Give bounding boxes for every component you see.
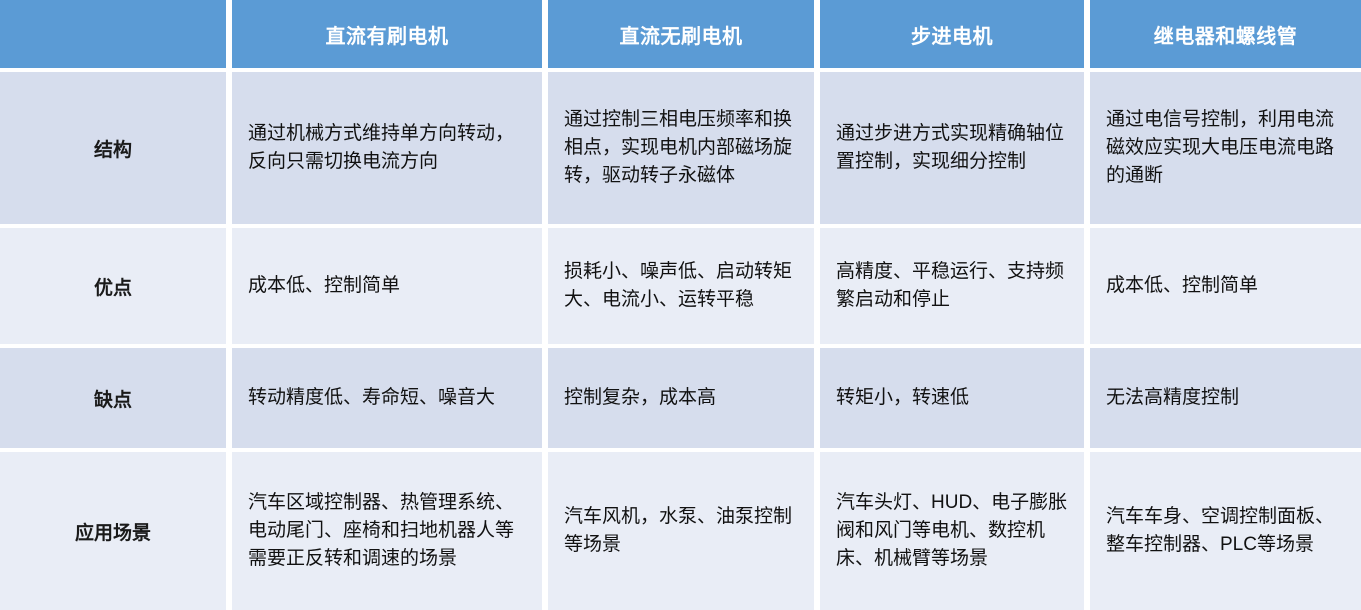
table-row: 结构 通过机械方式维持单方向转动，反向只需切换电流方向 通过控制三相电压频率和换… [0, 72, 1361, 224]
table-row: 缺点 转动精度低、寿命短、噪音大 控制复杂，成本高 转矩小，转速低 无法高精度控… [0, 348, 1361, 448]
cell-structure-stepper: 通过步进方式实现精确轴位置控制，实现细分控制 [820, 72, 1090, 224]
cell-disadvantages-relay-solenoid: 无法高精度控制 [1090, 348, 1361, 448]
motor-comparison-table: 直流有刷电机 直流无刷电机 步进电机 继电器和螺线管 结构 通过机械方式维持单方… [0, 0, 1361, 610]
row-label-cell-disadvantages: 缺点 [0, 348, 232, 448]
header-corner-cell [0, 0, 232, 68]
table-row: 应用场景 汽车区域控制器、热管理系统、电动尾门、座椅和扫地机器人等需要正反转和调… [0, 452, 1361, 610]
row-label-cell-applications: 应用场景 [0, 452, 232, 610]
header-label-stepper: 步进电机 [820, 0, 1090, 68]
cell-text: 无法高精度控制 [1090, 348, 1361, 448]
row-label-structure: 结构 [0, 72, 232, 224]
header-cell-stepper: 步进电机 [820, 0, 1090, 68]
cell-text: 高精度、平稳运行、支持频繁启动和停止 [820, 228, 1090, 344]
cell-text: 成本低、控制简单 [1090, 228, 1361, 344]
row-label-disadvantages: 缺点 [0, 348, 232, 448]
header-cell-relay-solenoid: 继电器和螺线管 [1090, 0, 1361, 68]
cell-advantages-relay-solenoid: 成本低、控制简单 [1090, 228, 1361, 344]
cell-text: 汽车车身、空调控制面板、整车控制器、PLC等场景 [1090, 452, 1361, 610]
row-label-applications: 应用场景 [0, 452, 232, 610]
cell-disadvantages-stepper: 转矩小，转速低 [820, 348, 1090, 448]
cell-advantages-stepper: 高精度、平稳运行、支持频繁启动和停止 [820, 228, 1090, 344]
cell-text: 通过步进方式实现精确轴位置控制，实现细分控制 [820, 72, 1090, 224]
cell-applications-stepper: 汽车头灯、HUD、电子膨胀阀和风门等电机、数控机床、机械臂等场景 [820, 452, 1090, 610]
cell-text: 汽车风机，水泵、油泵控制等场景 [548, 452, 820, 610]
row-label-advantages: 优点 [0, 228, 232, 344]
cell-text: 转动精度低、寿命短、噪音大 [232, 348, 548, 448]
cell-applications-brushed-dc: 汽车区域控制器、热管理系统、电动尾门、座椅和扫地机器人等需要正反转和调速的场景 [232, 452, 548, 610]
cell-text: 成本低、控制简单 [232, 228, 548, 344]
row-label-cell-structure: 结构 [0, 72, 232, 224]
cell-disadvantages-brushed-dc: 转动精度低、寿命短、噪音大 [232, 348, 548, 448]
cell-structure-brushed-dc: 通过机械方式维持单方向转动，反向只需切换电流方向 [232, 72, 548, 224]
cell-text: 损耗小、噪声低、启动转矩大、电流小、运转平稳 [548, 228, 820, 344]
cell-structure-brushless-dc: 通过控制三相电压频率和换相点，实现电机内部磁场旋转，驱动转子永磁体 [548, 72, 820, 224]
cell-text: 汽车区域控制器、热管理系统、电动尾门、座椅和扫地机器人等需要正反转和调速的场景 [232, 452, 548, 610]
cell-text: 通过机械方式维持单方向转动，反向只需切换电流方向 [232, 72, 548, 224]
table-row: 优点 成本低、控制简单 损耗小、噪声低、启动转矩大、电流小、运转平稳 高精度、平… [0, 228, 1361, 344]
header-label-brushless-dc: 直流无刷电机 [548, 0, 820, 68]
cell-advantages-brushed-dc: 成本低、控制简单 [232, 228, 548, 344]
header-label-brushed-dc: 直流有刷电机 [232, 0, 548, 68]
cell-advantages-brushless-dc: 损耗小、噪声低、启动转矩大、电流小、运转平稳 [548, 228, 820, 344]
corner-label [0, 0, 232, 68]
table-header-row: 直流有刷电机 直流无刷电机 步进电机 继电器和螺线管 [0, 0, 1361, 68]
cell-disadvantages-brushless-dc: 控制复杂，成本高 [548, 348, 820, 448]
cell-text: 通过控制三相电压频率和换相点，实现电机内部磁场旋转，驱动转子永磁体 [548, 72, 820, 224]
cell-text: 控制复杂，成本高 [548, 348, 820, 448]
row-label-cell-advantages: 优点 [0, 228, 232, 344]
cell-applications-brushless-dc: 汽车风机，水泵、油泵控制等场景 [548, 452, 820, 610]
cell-text: 转矩小，转速低 [820, 348, 1090, 448]
cell-text: 汽车头灯、HUD、电子膨胀阀和风门等电机、数控机床、机械臂等场景 [820, 452, 1090, 610]
cell-applications-relay-solenoid: 汽车车身、空调控制面板、整车控制器、PLC等场景 [1090, 452, 1361, 610]
cell-structure-relay-solenoid: 通过电信号控制，利用电流磁效应实现大电压电流电路的通断 [1090, 72, 1361, 224]
header-cell-brushed-dc: 直流有刷电机 [232, 0, 548, 68]
header-label-relay-solenoid: 继电器和螺线管 [1090, 0, 1361, 68]
cell-text: 通过电信号控制，利用电流磁效应实现大电压电流电路的通断 [1090, 72, 1361, 224]
header-cell-brushless-dc: 直流无刷电机 [548, 0, 820, 68]
